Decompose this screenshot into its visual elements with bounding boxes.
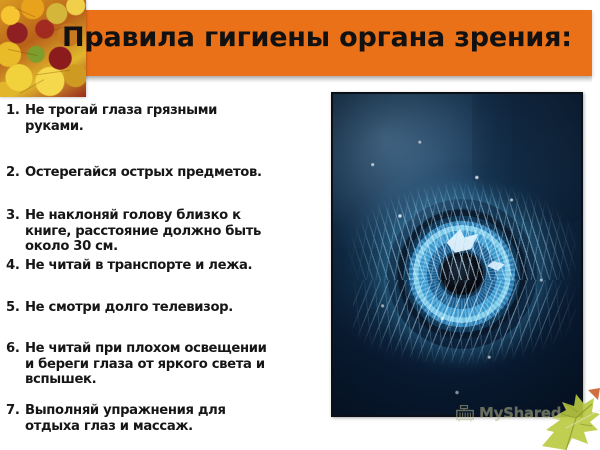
- list-item-text: Не читай в транспорте и лежа.: [25, 258, 252, 274]
- list-item-number: 6.: [6, 341, 25, 357]
- myshared-watermark-label: MyShared: [479, 404, 561, 422]
- list-item: 5. Не смотри долго телевизор.: [6, 300, 233, 316]
- list-item-number: 1.: [6, 103, 25, 119]
- list-item: 6. Не читай при плохом освещении и берег…: [6, 341, 267, 388]
- list-item-text: Не наклоняй голову близко к книге, расст…: [25, 208, 261, 255]
- eye-photo-vignette: [333, 94, 581, 415]
- page-title: Правила гигиены органа зрения:: [62, 21, 582, 55]
- list-item-number: 2.: [6, 165, 25, 181]
- list-item-text: Не читай при плохом освещении и береги г…: [25, 341, 267, 388]
- presentation-slide: Правила гигиены органа зрения: 1. Не тро…: [0, 0, 600, 450]
- list-item-number: 4.: [6, 258, 25, 274]
- list-item: 4. Не читай в транспорте и лежа.: [6, 258, 252, 274]
- list-item-text: Остерегайся острых предметов.: [25, 165, 262, 181]
- blue-eye-with-frosty-eyelashes-photo: [331, 92, 583, 417]
- myshared-projector-icon: [456, 405, 475, 422]
- list-item-number: 3.: [6, 208, 25, 224]
- list-item-text: Не смотри долго телевизор.: [25, 300, 233, 316]
- list-item: 1. Не трогай глаза грязными руками.: [6, 103, 217, 134]
- list-item-number: 5.: [6, 300, 25, 316]
- list-item-text: Не трогай глаза грязными руками.: [25, 103, 217, 134]
- list-item: 3. Не наклоняй голову близко к книге, ра…: [6, 208, 261, 255]
- list-item: 2. Остерегайся острых предметов.: [6, 165, 262, 181]
- list-item-text: Выполняй упражнения для отдыха глаз и ма…: [25, 403, 226, 434]
- title-banner-shadow: [45, 76, 592, 83]
- myshared-watermark: MyShared: [456, 404, 561, 422]
- list-item-number: 7.: [6, 403, 25, 419]
- list-item: 7. Выполняй упражнения для отдыха глаз и…: [6, 403, 226, 434]
